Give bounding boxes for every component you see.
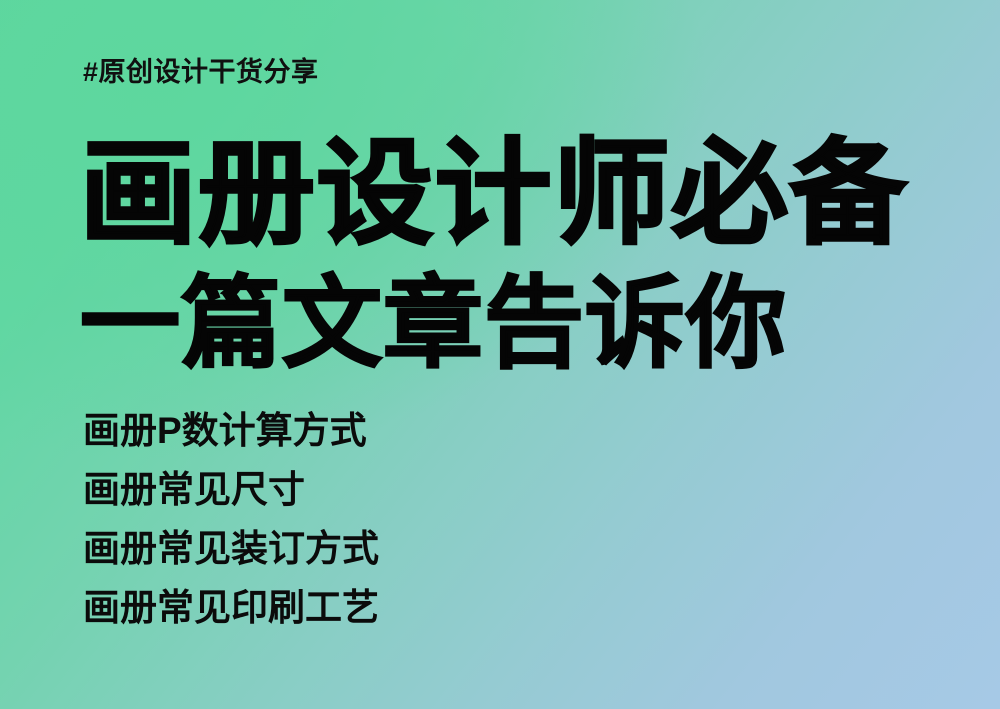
list-item: 画册P数计算方式 xyxy=(83,412,379,449)
headline-line-1: 画册设计师必备 xyxy=(80,138,957,252)
headline-block: 画册设计师必备 一篇文章告诉你 xyxy=(80,138,940,374)
list-item: 画册常见装订方式 xyxy=(83,530,379,567)
list-item: 画册常见尺寸 xyxy=(83,471,379,508)
headline-line-2: 一篇文章告诉你 xyxy=(80,274,940,374)
poster-content: #原创设计干货分享 画册设计师必备 一篇文章告诉你 画册P数计算方式 画册常见尺… xyxy=(0,0,1000,709)
list-item: 画册常见印刷工艺 xyxy=(83,589,379,626)
poster-canvas: #原创设计干货分享 画册设计师必备 一篇文章告诉你 画册P数计算方式 画册常见尺… xyxy=(0,0,1000,709)
topic-list: 画册P数计算方式 画册常见尺寸 画册常见装订方式 画册常见印刷工艺 xyxy=(83,412,379,626)
hashtag-label: #原创设计干货分享 xyxy=(83,58,319,88)
